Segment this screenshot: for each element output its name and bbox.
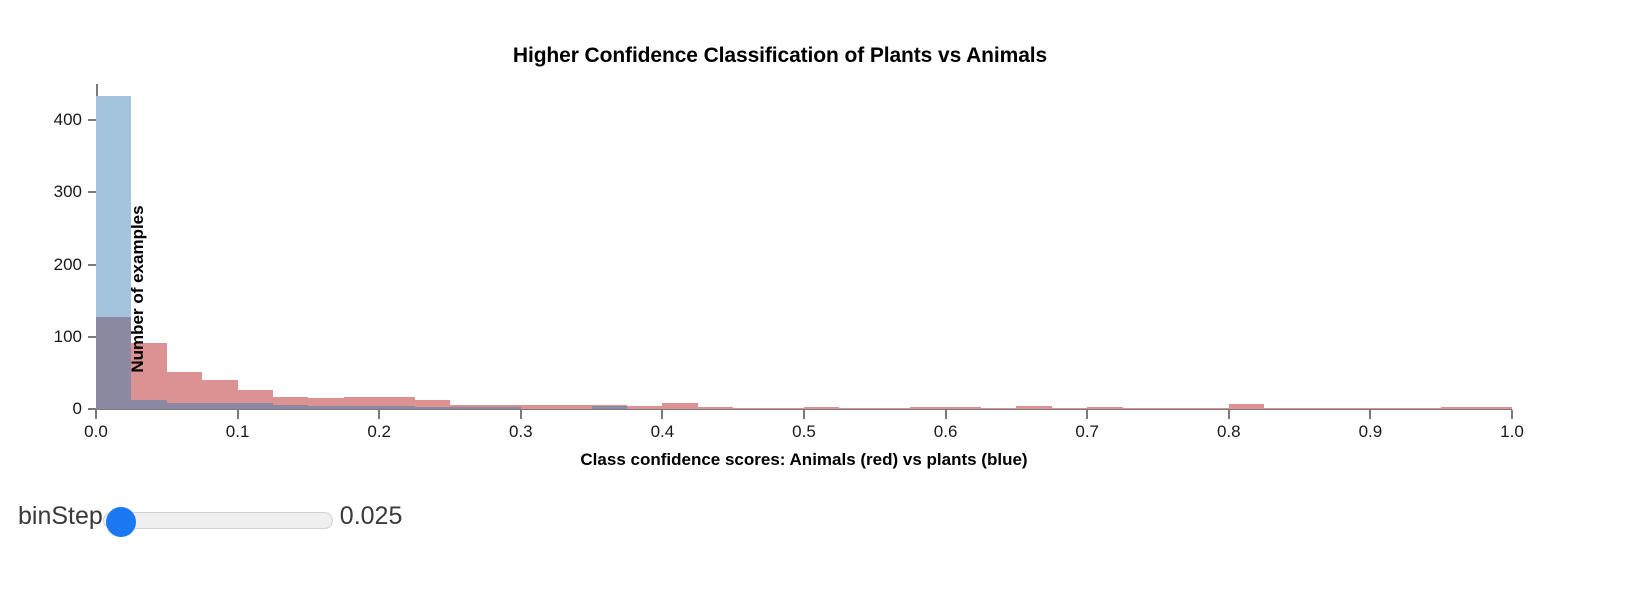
chart-title: Higher Confidence Classification of Plan… [0, 44, 1560, 68]
histogram-bar-overlap [238, 403, 273, 409]
histogram-bar-overlap [273, 405, 308, 409]
x-axis-tick-label: 0.9 [1335, 422, 1405, 442]
histogram-bar [910, 407, 945, 409]
x-axis-tick [945, 410, 947, 419]
y-axis-title: Number of examples [128, 139, 148, 439]
histogram-bar [1406, 408, 1441, 409]
histogram-bar [875, 408, 910, 409]
histogram-bar-overlap [308, 406, 343, 409]
x-axis-tick-label: 0.5 [769, 422, 839, 442]
histogram-bar-overlap [379, 406, 414, 409]
histogram-bar-overlap [202, 403, 237, 410]
histogram-bar [981, 408, 1016, 409]
histogram-bar [1158, 408, 1193, 409]
histogram-bar [1193, 408, 1228, 409]
y-axis-tick [88, 119, 96, 121]
histogram-bar [1300, 408, 1335, 409]
y-axis-tick [88, 336, 96, 338]
histogram-bar [839, 408, 874, 409]
histogram-bar [627, 406, 662, 409]
x-axis-tick-label: 0.2 [344, 422, 414, 442]
y-axis-tick-label: 0 [36, 400, 82, 417]
x-axis-tick [1086, 410, 1088, 419]
y-axis-tick [88, 264, 96, 266]
x-axis-tick-label: 0.0 [61, 422, 131, 442]
x-axis-tick [1228, 410, 1230, 419]
x-axis-tick [661, 410, 663, 419]
bin-step-value: 0.025 [340, 504, 403, 529]
histogram-bar-overlap [485, 407, 520, 409]
x-axis-title: Class confidence scores: Animals (red) v… [96, 450, 1512, 470]
histogram-bar-overlap [592, 406, 627, 409]
x-axis-tick-label: 0.4 [627, 422, 697, 442]
y-axis-tick-label: 200 [36, 256, 82, 273]
x-axis-tick-label: 0.7 [1052, 422, 1122, 442]
histogram-bar-overlap [96, 317, 131, 409]
histogram-bar [1123, 408, 1158, 409]
histogram-bar-overlap [415, 407, 450, 409]
x-axis-tick-label: 0.6 [911, 422, 981, 442]
x-axis-tick-label: 0.3 [486, 422, 556, 442]
histogram-bar [769, 408, 804, 409]
x-axis-tick-label: 0.1 [203, 422, 273, 442]
x-axis-tick-label: 1.0 [1477, 422, 1547, 442]
histogram-bar [521, 405, 556, 409]
slider-thumb[interactable] [106, 507, 136, 537]
histogram-bar [1264, 408, 1299, 409]
histogram-bars [96, 84, 1512, 409]
x-axis-tick [520, 410, 522, 419]
histogram-bar [946, 407, 981, 409]
histogram-bar [733, 408, 768, 409]
histogram-bar [1229, 404, 1264, 409]
x-axis-tick-label: 0.8 [1194, 422, 1264, 442]
y-axis-tick-label: 100 [36, 328, 82, 345]
slider-track[interactable] [103, 512, 333, 529]
x-axis-tick [95, 410, 97, 419]
x-axis-tick [237, 410, 239, 419]
histogram-bar [1477, 407, 1512, 409]
y-axis-tick-label: 300 [36, 183, 82, 200]
histogram-bar-overlap [167, 403, 202, 410]
histogram-bar [1087, 407, 1122, 409]
y-axis-tick-label: 400 [36, 111, 82, 128]
histogram-bar [556, 405, 591, 409]
y-axis-tick [88, 191, 96, 193]
bin-step-control: binStep 0.025 [18, 493, 402, 539]
histogram-bar [1441, 407, 1476, 409]
histogram-app: Higher Confidence Classification of Plan… [0, 0, 1646, 600]
x-axis-tick [803, 410, 805, 419]
plot-area: Number of examples [96, 84, 1512, 409]
histogram-bar [662, 403, 697, 410]
x-axis-tick [1369, 410, 1371, 419]
bin-step-label: binStep [18, 504, 103, 529]
histogram-bar [1016, 406, 1051, 409]
histogram-bar-overlap [344, 406, 379, 409]
histogram-bar-overlap [450, 407, 485, 409]
histogram-bar [1370, 408, 1405, 409]
histogram-bar [1052, 408, 1087, 409]
histogram-bar [804, 407, 839, 409]
bin-step-slider[interactable] [103, 501, 333, 531]
histogram-bar [698, 407, 733, 409]
x-axis-tick [1511, 410, 1513, 419]
x-axis-tick [378, 410, 380, 419]
histogram-bar [1335, 408, 1370, 409]
